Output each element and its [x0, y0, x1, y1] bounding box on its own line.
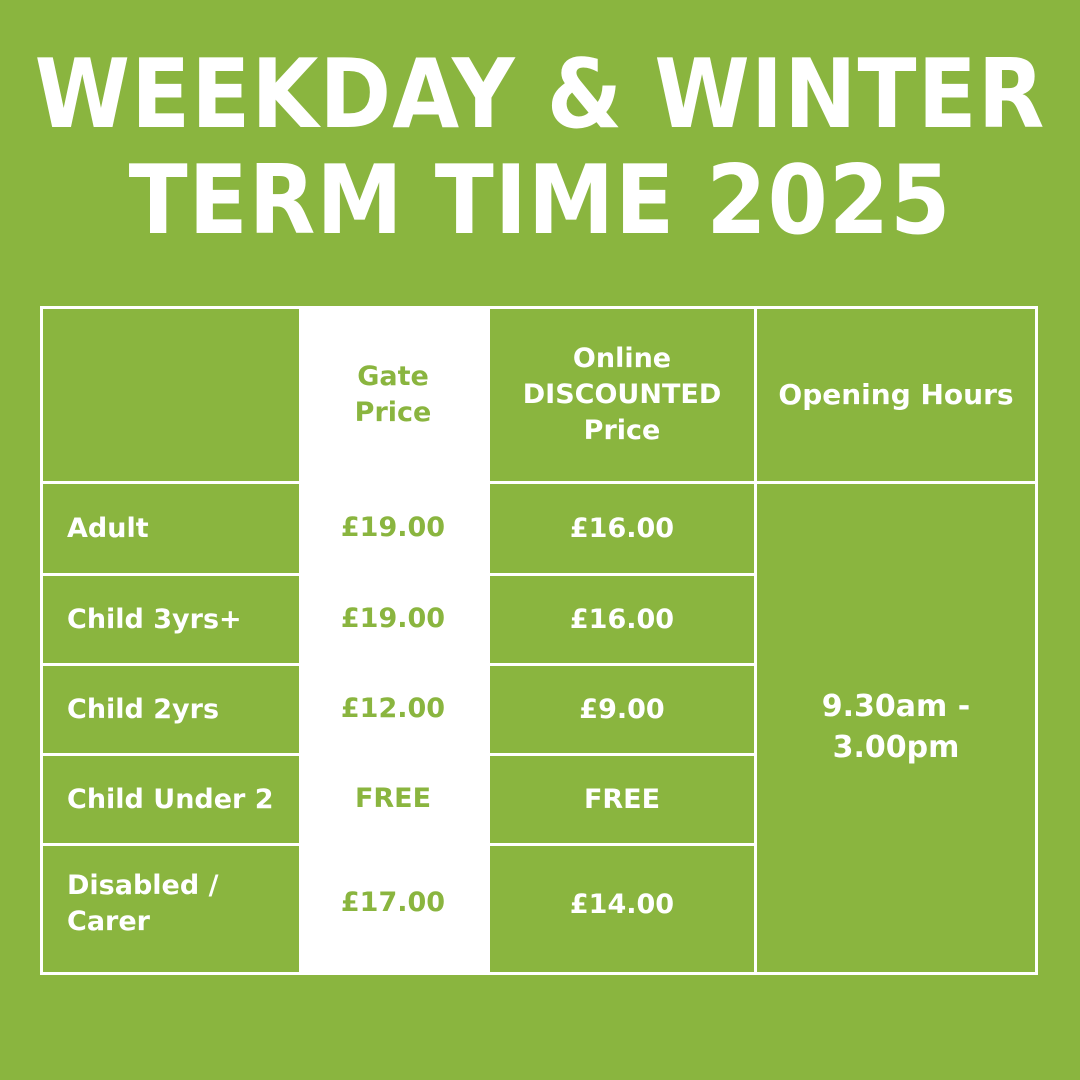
gate-price-value: £17.00	[299, 843, 487, 962]
column-ticket-type: Adult Child 3yrs+ Child 2yrs Child Under…	[43, 309, 299, 972]
column-opening-hours: Opening Hours 9.30am - 3.00pm	[757, 309, 1035, 972]
header-online-price-line2: DISCOUNTED	[490, 377, 754, 413]
header-online-price-text: Online DISCOUNTED Price	[490, 341, 754, 450]
header-gate-price-line1: Gate	[299, 359, 487, 395]
header-opening-hours: Opening Hours	[757, 309, 1035, 481]
online-price-value: £16.00	[490, 481, 754, 573]
online-price-value: £14.00	[490, 843, 754, 962]
gate-price-value: £19.00	[299, 573, 487, 663]
header-ticket-type	[43, 309, 299, 481]
header-online-price-line1: Online	[490, 341, 754, 377]
header-gate-price: Gate Price	[299, 309, 487, 481]
online-price-value: £9.00	[490, 663, 754, 753]
header-online-price-line3: Price	[490, 413, 754, 449]
table-row: Child 3yrs+	[43, 573, 299, 663]
table-row: Adult	[43, 481, 299, 573]
online-price-value: £16.00	[490, 573, 754, 663]
online-price-value: FREE	[490, 753, 754, 843]
gate-price-value: £12.00	[299, 663, 487, 753]
table-row: Child Under 2	[43, 753, 299, 843]
header-opening-hours-text: Opening Hours	[757, 376, 1035, 414]
price-table: Adult Child 3yrs+ Child 2yrs Child Under…	[40, 306, 1038, 975]
table-row: Disabled / Carer	[43, 843, 299, 962]
header-gate-price-line2: Price	[299, 395, 487, 431]
header-gate-price-text: Gate Price	[299, 359, 487, 431]
gate-price-value: FREE	[299, 753, 487, 843]
page-title: Weekday & Winter Term Time 2025	[0, 52, 1080, 242]
opening-hours-value: 9.30am - 3.00pm	[757, 481, 1035, 972]
pricing-poster: Weekday & Winter Term Time 2025 Adult Ch…	[0, 0, 1080, 1080]
header-online-price: Online DISCOUNTED Price	[490, 309, 754, 481]
table-row: Child 2yrs	[43, 663, 299, 753]
column-online-discounted-price: Online DISCOUNTED Price £16.00 £16.00 £9…	[487, 309, 757, 972]
title-line-2: Term Time 2025	[0, 152, 1080, 248]
title-line-1: Weekday & Winter	[0, 46, 1080, 142]
gate-price-value: £19.00	[299, 481, 487, 573]
column-gate-price: Gate Price £19.00 £19.00 £12.00 FREE £17…	[299, 309, 487, 972]
